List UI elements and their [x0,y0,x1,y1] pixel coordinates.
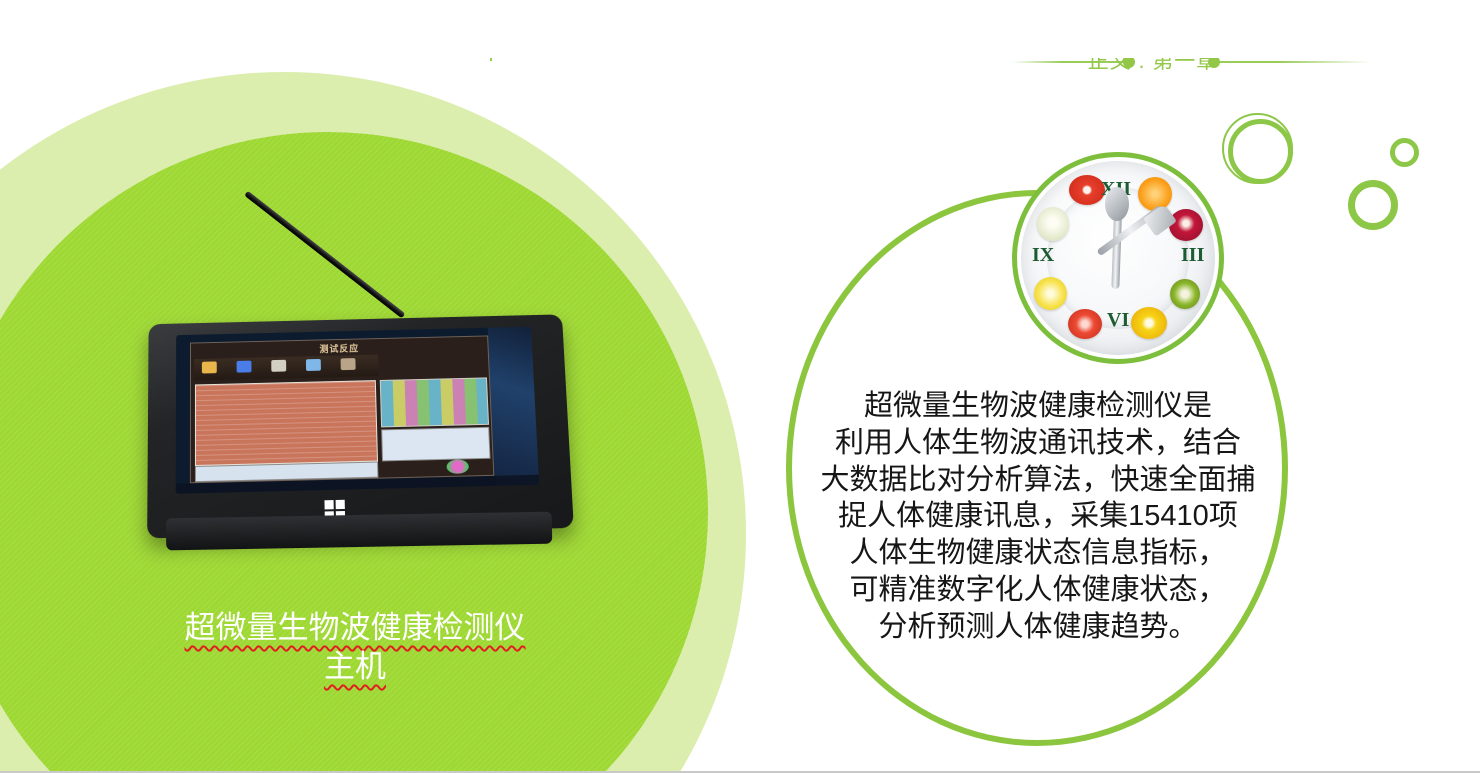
screen-wallpaper [488,327,539,486]
screen-toolbar-icon-4 [306,359,321,371]
screen-data-grid [195,380,378,466]
screen-toolbar-icon-3 [271,360,286,372]
food-tomato-icon [1068,309,1102,339]
device-antenna [244,191,405,319]
screen-color-legend-panel [380,377,489,427]
decor-circle-medium-icon [1348,180,1398,230]
clock-numeral-vi: VI [1107,309,1129,332]
screen-application-window: 测试反应 [190,335,494,483]
food-pomegranate-icon [1169,209,1203,241]
description-paragraph: 超微量生物波健康检测仪是 利用人体生物波通讯技术，结合 大数据比对分析算法，快速… [790,388,1286,646]
device-caption-line-2: 主机 [324,647,386,686]
food-clock-image: XII III VI IX [1012,152,1224,364]
slide-header [0,0,1480,72]
header-white-band [0,0,1480,58]
slide-root: 第 1 页 设备功能概述 何谓超微量生物波健康检测仪 正文 . 第一章 [0,0,1480,773]
food-orange-icon [1138,177,1172,211]
screen-toolbar-icon-5 [341,358,356,370]
clock-numeral-ix: IX [1032,244,1054,267]
decor-circle-small-icon [1390,138,1419,167]
food-red-pepper-icon [1069,175,1105,205]
food-lemon-icon [1034,277,1067,310]
screen-app-toolbar [194,355,379,381]
device-caption-line-1: 超微量生物波健康检测仪 [185,608,526,647]
description-line-5: 人体生物健康状态信息指标， [790,535,1286,572]
description-line-1: 超微量生物波健康检测仪是 [790,388,1286,425]
description-line-3: 大数据比对分析算法，快速全面捕 [790,462,1286,499]
screen-flower-graphic-icon [446,459,469,474]
device-photo: 测试反应 [128,175,588,575]
description-line-6: 可精准数字化人体健康状态， [790,572,1286,609]
description-line-4: 捉人体健康讯息，采集15410项 [790,498,1286,535]
clock-numeral-iii: III [1181,244,1204,267]
description-line-7: 分析预测人体健康趋势。 [790,609,1286,646]
clock-face: XII III VI IX [1021,161,1215,355]
food-kiwi-icon [1170,279,1200,309]
device-screen: 测试反应 [176,327,539,494]
device-stand-base [166,512,552,551]
description-line-2: 利用人体生物波通讯技术，结合 [790,425,1286,462]
decor-circle-large-icon [1228,119,1293,184]
spoon-head-icon [1105,187,1129,221]
food-yellow-pepper-icon [1131,307,1167,339]
device-caption: 超微量生物波健康检测仪 主机 [110,608,600,686]
screen-toolbar-icon-1 [202,361,217,373]
screen-toolbar-icon-2 [237,361,252,373]
food-apple-icon [1037,207,1069,241]
screen-input-panel [381,427,490,462]
device-tablet-body: 测试反应 [147,314,574,538]
